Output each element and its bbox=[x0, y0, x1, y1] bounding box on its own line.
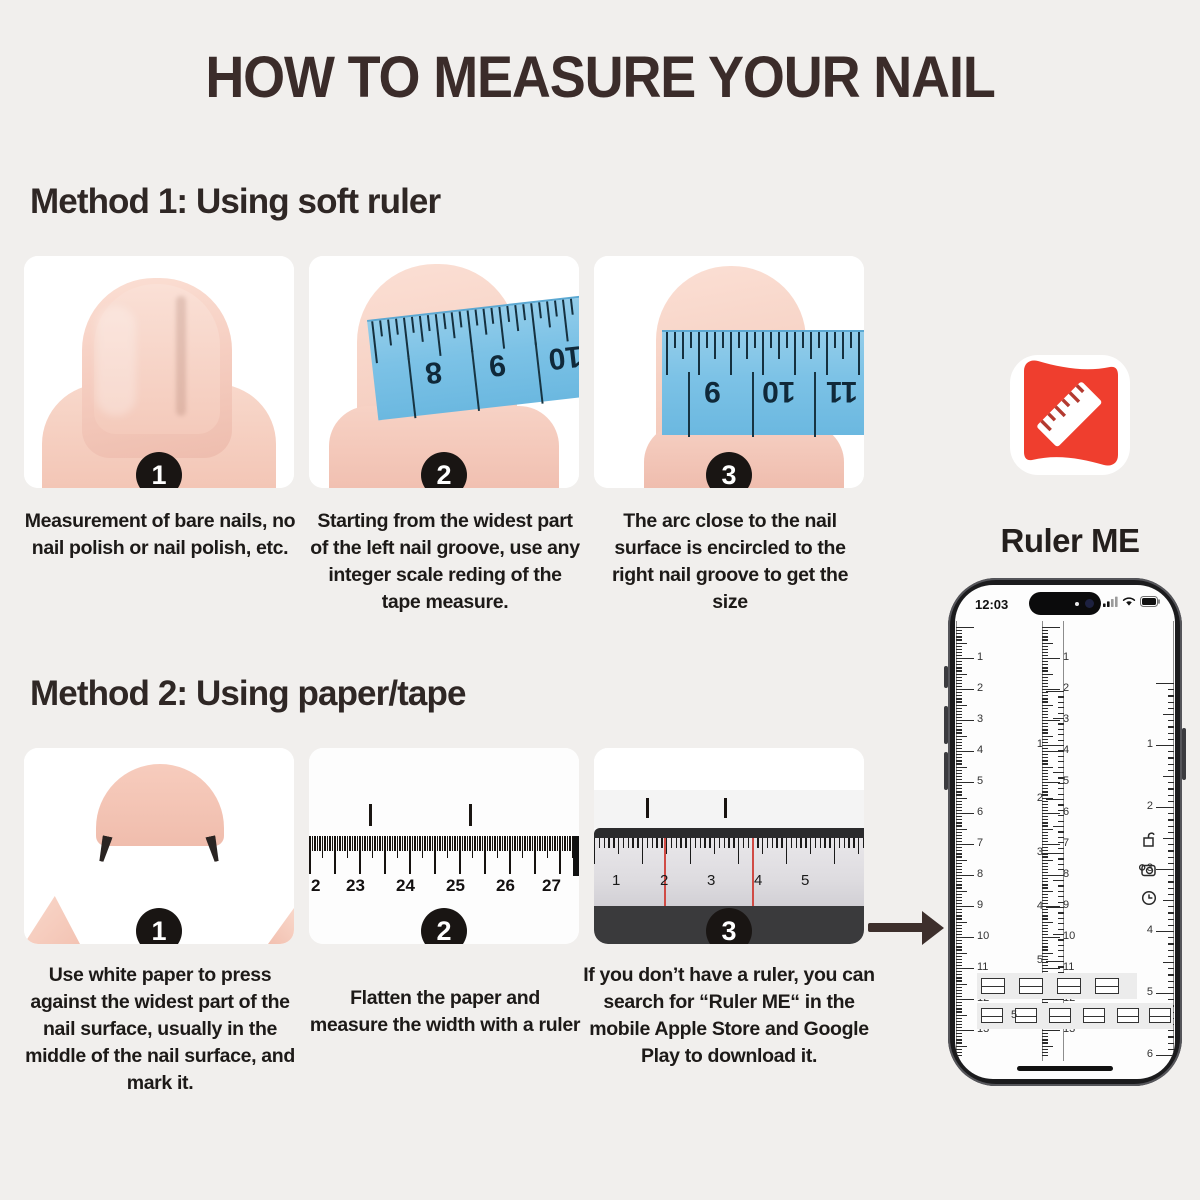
scale-tick bbox=[1042, 897, 1048, 898]
scale-tick bbox=[1042, 819, 1048, 820]
ruler-tick bbox=[628, 838, 629, 848]
scale-tick bbox=[956, 835, 962, 836]
scale-tick bbox=[1042, 835, 1048, 836]
scale-tick bbox=[1042, 711, 1048, 712]
ruler-tick bbox=[671, 838, 672, 848]
ruler-tick bbox=[349, 836, 351, 851]
scale-number: 1 bbox=[977, 651, 983, 663]
scale-tick bbox=[1168, 819, 1174, 820]
status-bar-indicators bbox=[1103, 596, 1161, 607]
ruler-tick bbox=[776, 838, 777, 848]
ruler-tick bbox=[354, 836, 356, 851]
ruler-tick bbox=[494, 836, 496, 851]
scale-tick bbox=[1042, 829, 1053, 830]
scale-tick bbox=[956, 860, 967, 861]
ruler-tick bbox=[482, 836, 484, 851]
scale-tick bbox=[1168, 757, 1174, 758]
ruler-tick bbox=[632, 838, 633, 848]
scale-tick bbox=[1168, 764, 1174, 765]
measured-object bbox=[981, 978, 1005, 994]
scale-tick bbox=[956, 912, 962, 913]
scale-tick bbox=[956, 968, 974, 969]
scale-number: 4 bbox=[977, 744, 983, 756]
ruler-tick bbox=[487, 836, 489, 851]
scale-tick bbox=[1168, 733, 1174, 734]
scale-tick bbox=[1042, 956, 1048, 957]
scale-tick bbox=[956, 993, 962, 994]
scale-tick bbox=[956, 959, 962, 960]
scale-tick bbox=[1163, 838, 1174, 839]
method-1-heading: Method 1: Using soft ruler bbox=[30, 182, 440, 222]
scale-tick bbox=[1168, 702, 1174, 703]
scale-tick bbox=[1168, 981, 1174, 982]
scale-tick bbox=[956, 801, 962, 802]
scale-tick bbox=[1042, 627, 1060, 628]
scale-tick bbox=[1042, 968, 1060, 969]
ruler-tick bbox=[434, 836, 436, 874]
ruler-tick bbox=[529, 836, 531, 851]
scale-tick bbox=[1168, 739, 1174, 740]
scale-tick bbox=[1042, 884, 1048, 885]
ruler-number: 5 bbox=[801, 872, 809, 889]
scale-tick bbox=[956, 776, 962, 777]
ruler-tick bbox=[407, 836, 409, 851]
ruler-tick bbox=[419, 836, 421, 851]
ruler-tick bbox=[397, 836, 399, 858]
scale-tick bbox=[1042, 785, 1048, 786]
ruler-tick bbox=[652, 838, 653, 848]
ruler-tick bbox=[604, 838, 605, 848]
scale-tick bbox=[1042, 915, 1048, 916]
ruler-number: 3 bbox=[707, 872, 715, 889]
measured-object bbox=[1095, 978, 1119, 994]
scale-tick bbox=[1042, 776, 1048, 777]
ruler-tick bbox=[772, 838, 773, 848]
scale-tick bbox=[1042, 953, 1053, 954]
scale-number: 3 bbox=[977, 713, 983, 725]
scale-tick bbox=[1042, 928, 1048, 929]
scale-tick bbox=[1042, 999, 1060, 1000]
scale-tick bbox=[1042, 658, 1060, 659]
scale-tick bbox=[956, 996, 962, 997]
ruler-tick bbox=[767, 838, 768, 848]
ruler-tick bbox=[384, 836, 386, 874]
scale-tick bbox=[1042, 937, 1060, 938]
ruler-tick bbox=[728, 838, 729, 848]
scale-tick bbox=[956, 832, 962, 833]
scale-tick bbox=[1042, 847, 1048, 848]
scale-tick bbox=[1042, 717, 1048, 718]
scale-tick bbox=[1042, 869, 1048, 870]
scale-tick bbox=[1156, 869, 1174, 870]
scale-tick bbox=[1042, 757, 1048, 758]
scale-tick bbox=[1042, 1039, 1048, 1040]
scale-tick bbox=[956, 680, 962, 681]
scale-tick bbox=[956, 760, 962, 761]
scale-tick bbox=[956, 971, 962, 972]
ruler-tick bbox=[786, 838, 787, 864]
scale-tick bbox=[1168, 813, 1174, 814]
scale-tick bbox=[956, 791, 962, 792]
scale-number: 4 bbox=[1147, 924, 1153, 936]
ruler-tick bbox=[402, 836, 404, 851]
scale-tick bbox=[1042, 677, 1048, 678]
scale-tick bbox=[1042, 680, 1048, 681]
page-title: HOW TO MEASURE YOUR NAIL bbox=[42, 44, 1158, 111]
scale-tick bbox=[956, 655, 962, 656]
ruler-tick bbox=[372, 836, 374, 858]
phone-volume-down-button[interactable] bbox=[944, 752, 948, 790]
scale-tick bbox=[1168, 956, 1174, 957]
scale-tick bbox=[1042, 705, 1053, 706]
scale-tick bbox=[956, 732, 962, 733]
scale-tick bbox=[956, 652, 962, 653]
dynamic-island bbox=[1029, 592, 1101, 615]
ruler-tick bbox=[447, 836, 449, 858]
scale-tick bbox=[956, 763, 962, 764]
scale-tick bbox=[1042, 1042, 1048, 1043]
scale-number: 7 bbox=[977, 837, 983, 849]
ruler-number: 2 bbox=[660, 872, 668, 889]
tape-number: 9 bbox=[704, 374, 721, 408]
ruler-tick bbox=[844, 838, 845, 848]
ruler-me-app-screen[interactable]: 12:03 bbox=[955, 585, 1175, 1079]
phone-volume-up-button[interactable] bbox=[944, 706, 948, 744]
ruler-tick bbox=[332, 836, 334, 851]
ruler-tick bbox=[552, 836, 554, 851]
scale-number: 10 bbox=[977, 930, 989, 942]
scale-tick bbox=[956, 1049, 962, 1050]
scale-tick bbox=[1042, 751, 1060, 752]
ruler-tick bbox=[389, 836, 391, 851]
scale-tick bbox=[1163, 900, 1174, 901]
scale-tick bbox=[956, 962, 962, 963]
ruler-tick bbox=[685, 838, 686, 848]
scale-tick bbox=[1042, 912, 1048, 913]
ruler-tick bbox=[557, 836, 559, 851]
scale-tick bbox=[1042, 844, 1060, 845]
ruler-tick bbox=[499, 836, 501, 851]
phone-mute-switch[interactable] bbox=[944, 666, 948, 688]
ruler-tick bbox=[379, 836, 381, 851]
ruler-tick bbox=[519, 836, 521, 851]
scale-tick bbox=[956, 987, 962, 988]
ruler-tick bbox=[317, 836, 319, 851]
scale-tick bbox=[1168, 894, 1174, 895]
ruler-tick bbox=[439, 836, 441, 851]
ruler-tick bbox=[427, 836, 429, 851]
ruler-tick bbox=[666, 838, 667, 854]
scale-tick bbox=[956, 770, 962, 771]
ruler-me-app-icon[interactable] bbox=[1010, 355, 1130, 475]
scale-tick bbox=[1168, 912, 1174, 913]
scale-tick bbox=[1042, 959, 1048, 960]
scale-tick bbox=[956, 891, 967, 892]
scale-tick bbox=[956, 667, 962, 668]
scale-tick bbox=[956, 717, 962, 718]
scale-tick bbox=[1042, 903, 1048, 904]
scale-tick bbox=[1168, 826, 1174, 827]
scale-tick bbox=[1042, 866, 1048, 867]
scale-tick bbox=[1042, 714, 1048, 715]
scale-tick bbox=[1042, 745, 1048, 746]
ruler-tick bbox=[409, 836, 411, 874]
phone-power-button[interactable] bbox=[1182, 728, 1186, 780]
scale-tick bbox=[1163, 776, 1174, 777]
scale-number: 2 bbox=[1063, 682, 1069, 694]
ruler-tick bbox=[562, 836, 564, 851]
scale-tick bbox=[956, 850, 962, 851]
scale-tick bbox=[956, 856, 962, 857]
scale-tick bbox=[956, 639, 962, 640]
scale-tick bbox=[1042, 906, 1060, 907]
scale-tick bbox=[956, 925, 962, 926]
scale-tick bbox=[956, 1005, 962, 1006]
ruler-tick bbox=[517, 836, 519, 851]
ruler-tick bbox=[534, 836, 536, 874]
ruler-tick bbox=[544, 836, 546, 851]
ruler-tick bbox=[459, 836, 461, 874]
scale-number: 4 bbox=[1063, 744, 1069, 756]
scale-tick bbox=[956, 804, 962, 805]
scale-tick bbox=[956, 1046, 967, 1047]
ruler-tick bbox=[656, 838, 657, 848]
scale-tick bbox=[1042, 779, 1048, 780]
method-1-step-3-photo: 9 10 11 3 bbox=[594, 256, 864, 488]
ruler-tick bbox=[554, 836, 556, 851]
scale-tick bbox=[956, 739, 962, 740]
scale-tick bbox=[956, 630, 962, 631]
scale-tick bbox=[956, 875, 974, 876]
scale-tick bbox=[956, 748, 962, 749]
scale-tick bbox=[1042, 794, 1048, 795]
tape-number: 8 bbox=[423, 354, 443, 390]
scale-tick bbox=[1168, 857, 1174, 858]
unlock-icon[interactable] bbox=[1141, 831, 1157, 853]
ruler-number: 26 bbox=[496, 876, 515, 896]
scale-tick bbox=[1042, 872, 1048, 873]
method-2-step-3-photo: 1 2 3 4 5 3 bbox=[594, 748, 864, 944]
scale-tick bbox=[956, 664, 962, 665]
scale-tick bbox=[956, 695, 962, 696]
scale-tick bbox=[1042, 739, 1048, 740]
ruler-tick bbox=[314, 836, 316, 851]
scale-tick bbox=[956, 918, 962, 919]
scale-tick bbox=[1042, 934, 1048, 935]
scale-tick bbox=[956, 931, 962, 932]
scale-tick bbox=[1042, 667, 1048, 668]
measured-object bbox=[1019, 978, 1043, 994]
ruler-tick bbox=[757, 838, 758, 848]
method-1-step-1-caption: Measurement of bare nails, no nail polis… bbox=[24, 508, 296, 562]
ruler-number: 24 bbox=[396, 876, 415, 896]
ruler-tick bbox=[479, 836, 481, 851]
scale-spine bbox=[1173, 621, 1174, 1061]
scale-tick bbox=[956, 714, 962, 715]
scale-number: 2 bbox=[977, 682, 983, 694]
scale-tick bbox=[1168, 881, 1174, 882]
scale-tick bbox=[956, 909, 962, 910]
ruler-tick bbox=[367, 836, 369, 851]
ruler-tick bbox=[564, 836, 566, 851]
method-1-step-2-caption: Starting from the widest part of the lef… bbox=[309, 508, 581, 616]
ruler-tick bbox=[709, 838, 710, 848]
ruler-tick bbox=[492, 836, 494, 851]
ruler-tick bbox=[477, 836, 479, 851]
ruler-tick bbox=[452, 836, 454, 851]
ruler-tick bbox=[362, 836, 364, 851]
scale-tick bbox=[1163, 714, 1174, 715]
scale-tick bbox=[1042, 649, 1048, 650]
scale-tick bbox=[1042, 770, 1048, 771]
scale-tick bbox=[956, 767, 967, 768]
scale-tick bbox=[956, 844, 974, 845]
scale-number: 7 bbox=[1063, 837, 1069, 849]
scale-tick bbox=[1042, 925, 1048, 926]
scale-tick bbox=[956, 900, 962, 901]
scale-tick bbox=[956, 751, 974, 752]
ruler-tick bbox=[414, 836, 416, 851]
scale-tick bbox=[1042, 813, 1060, 814]
scale-tick bbox=[956, 897, 962, 898]
cellular-signal-icon bbox=[1103, 596, 1118, 607]
scale-tick bbox=[1042, 949, 1048, 950]
ruler-tick bbox=[322, 836, 324, 858]
scale-tick bbox=[956, 633, 962, 634]
ruler-tick bbox=[502, 836, 504, 851]
method-1-step-2-photo: 8 9 10 2 bbox=[309, 256, 579, 488]
scale-tick bbox=[1156, 745, 1174, 746]
ruler-number: 27 bbox=[542, 876, 561, 896]
scale-tick bbox=[956, 937, 974, 938]
scale-number: 6 bbox=[1147, 1048, 1153, 1060]
scale-tick bbox=[1042, 863, 1048, 864]
measured-object-row-bottom bbox=[977, 1003, 1173, 1029]
ruler-tick bbox=[444, 836, 446, 851]
scale-tick bbox=[956, 881, 962, 882]
scale-tick bbox=[1042, 810, 1048, 811]
scale-tick bbox=[956, 943, 962, 944]
scale-tick bbox=[1168, 801, 1174, 802]
method-1-step-3-caption: The arc close to the nail surface is enc… bbox=[594, 508, 866, 616]
scale-tick bbox=[1042, 918, 1048, 919]
scale-tick bbox=[956, 956, 962, 957]
scale-tick bbox=[1156, 683, 1174, 684]
ruler-tick bbox=[334, 836, 336, 874]
ruler-tick bbox=[347, 836, 349, 858]
scale-tick bbox=[956, 729, 962, 730]
scale-tick bbox=[1168, 832, 1174, 833]
ruler-tick bbox=[337, 836, 339, 851]
ruler-tick bbox=[608, 838, 609, 848]
scale-tick bbox=[956, 1052, 962, 1053]
scale-tick bbox=[956, 810, 962, 811]
ruler-tick bbox=[839, 838, 840, 848]
ruler-tick bbox=[537, 836, 539, 851]
ruler-tick bbox=[464, 836, 466, 851]
camera-icon[interactable] bbox=[1139, 862, 1158, 883]
ruler-tick bbox=[374, 836, 376, 851]
scale-tick bbox=[956, 1018, 962, 1019]
ruler-tick bbox=[512, 836, 514, 851]
ruler-tick bbox=[680, 838, 681, 848]
scale-tick bbox=[956, 977, 962, 978]
scale-tick bbox=[1042, 943, 1048, 944]
scale-tick bbox=[1168, 1049, 1174, 1050]
ruler-tick bbox=[569, 836, 571, 851]
ruler-tick bbox=[690, 838, 691, 864]
scale-tick bbox=[956, 689, 974, 690]
ruler-tick bbox=[848, 838, 849, 848]
history-icon[interactable] bbox=[1141, 890, 1157, 911]
scale-tick bbox=[1042, 661, 1048, 662]
scale-tick bbox=[1042, 1052, 1048, 1053]
scale-tick bbox=[1042, 760, 1048, 761]
scale-tick bbox=[1042, 962, 1048, 963]
scale-tick bbox=[956, 794, 962, 795]
ruler-tick bbox=[417, 836, 419, 851]
ruler-tick bbox=[853, 838, 854, 848]
scale-tick bbox=[1042, 1033, 1048, 1034]
scale-tick bbox=[956, 928, 962, 929]
scale-tick bbox=[1042, 791, 1048, 792]
measured-object bbox=[1049, 1008, 1071, 1023]
scale-tick bbox=[1168, 950, 1174, 951]
ruler-tick bbox=[344, 836, 346, 851]
object-scale-label: 5 bbox=[1011, 1009, 1017, 1021]
scale-tick bbox=[1168, 987, 1174, 988]
method-2-step-1-photo: 1 bbox=[24, 748, 294, 944]
scale-tick bbox=[956, 1055, 962, 1056]
scale-tick bbox=[1156, 1055, 1174, 1056]
scale-tick bbox=[956, 953, 967, 954]
scale-tick bbox=[956, 887, 962, 888]
ruler-tick bbox=[524, 836, 526, 851]
measured-object bbox=[981, 1008, 1003, 1023]
scale-tick bbox=[1042, 729, 1048, 730]
scale-tick bbox=[1042, 825, 1048, 826]
ruler-tick bbox=[863, 838, 864, 848]
scale-tick bbox=[1042, 763, 1048, 764]
ruler-tick bbox=[352, 836, 354, 851]
ruler-tick bbox=[422, 836, 424, 858]
scale-tick bbox=[956, 1008, 962, 1009]
scale-tick bbox=[956, 1011, 962, 1012]
scale-tick bbox=[956, 940, 962, 941]
scale-tick bbox=[956, 757, 962, 758]
home-indicator[interactable] bbox=[1017, 1066, 1113, 1071]
scale-tick bbox=[1042, 695, 1048, 696]
scale-tick bbox=[956, 773, 962, 774]
ruler-tick bbox=[547, 836, 549, 858]
scale-tick bbox=[1042, 664, 1048, 665]
ruler-tick bbox=[522, 836, 524, 858]
scale-tick bbox=[1168, 875, 1174, 876]
scale-tick bbox=[1042, 1055, 1048, 1056]
scale-tick bbox=[1168, 708, 1174, 709]
measured-object bbox=[1083, 1008, 1105, 1023]
ruler-tick bbox=[748, 838, 749, 848]
ruler-tick bbox=[507, 836, 509, 851]
scale-number: 5 bbox=[1063, 775, 1069, 787]
scale-tick bbox=[956, 686, 962, 687]
front-camera-icon bbox=[1085, 599, 1094, 608]
ruler-number: 4 bbox=[754, 872, 762, 889]
ruler-tick bbox=[527, 836, 529, 851]
scale-tick bbox=[1042, 850, 1048, 851]
ruler-tick bbox=[829, 838, 830, 848]
tape-number: 10 bbox=[762, 374, 795, 408]
